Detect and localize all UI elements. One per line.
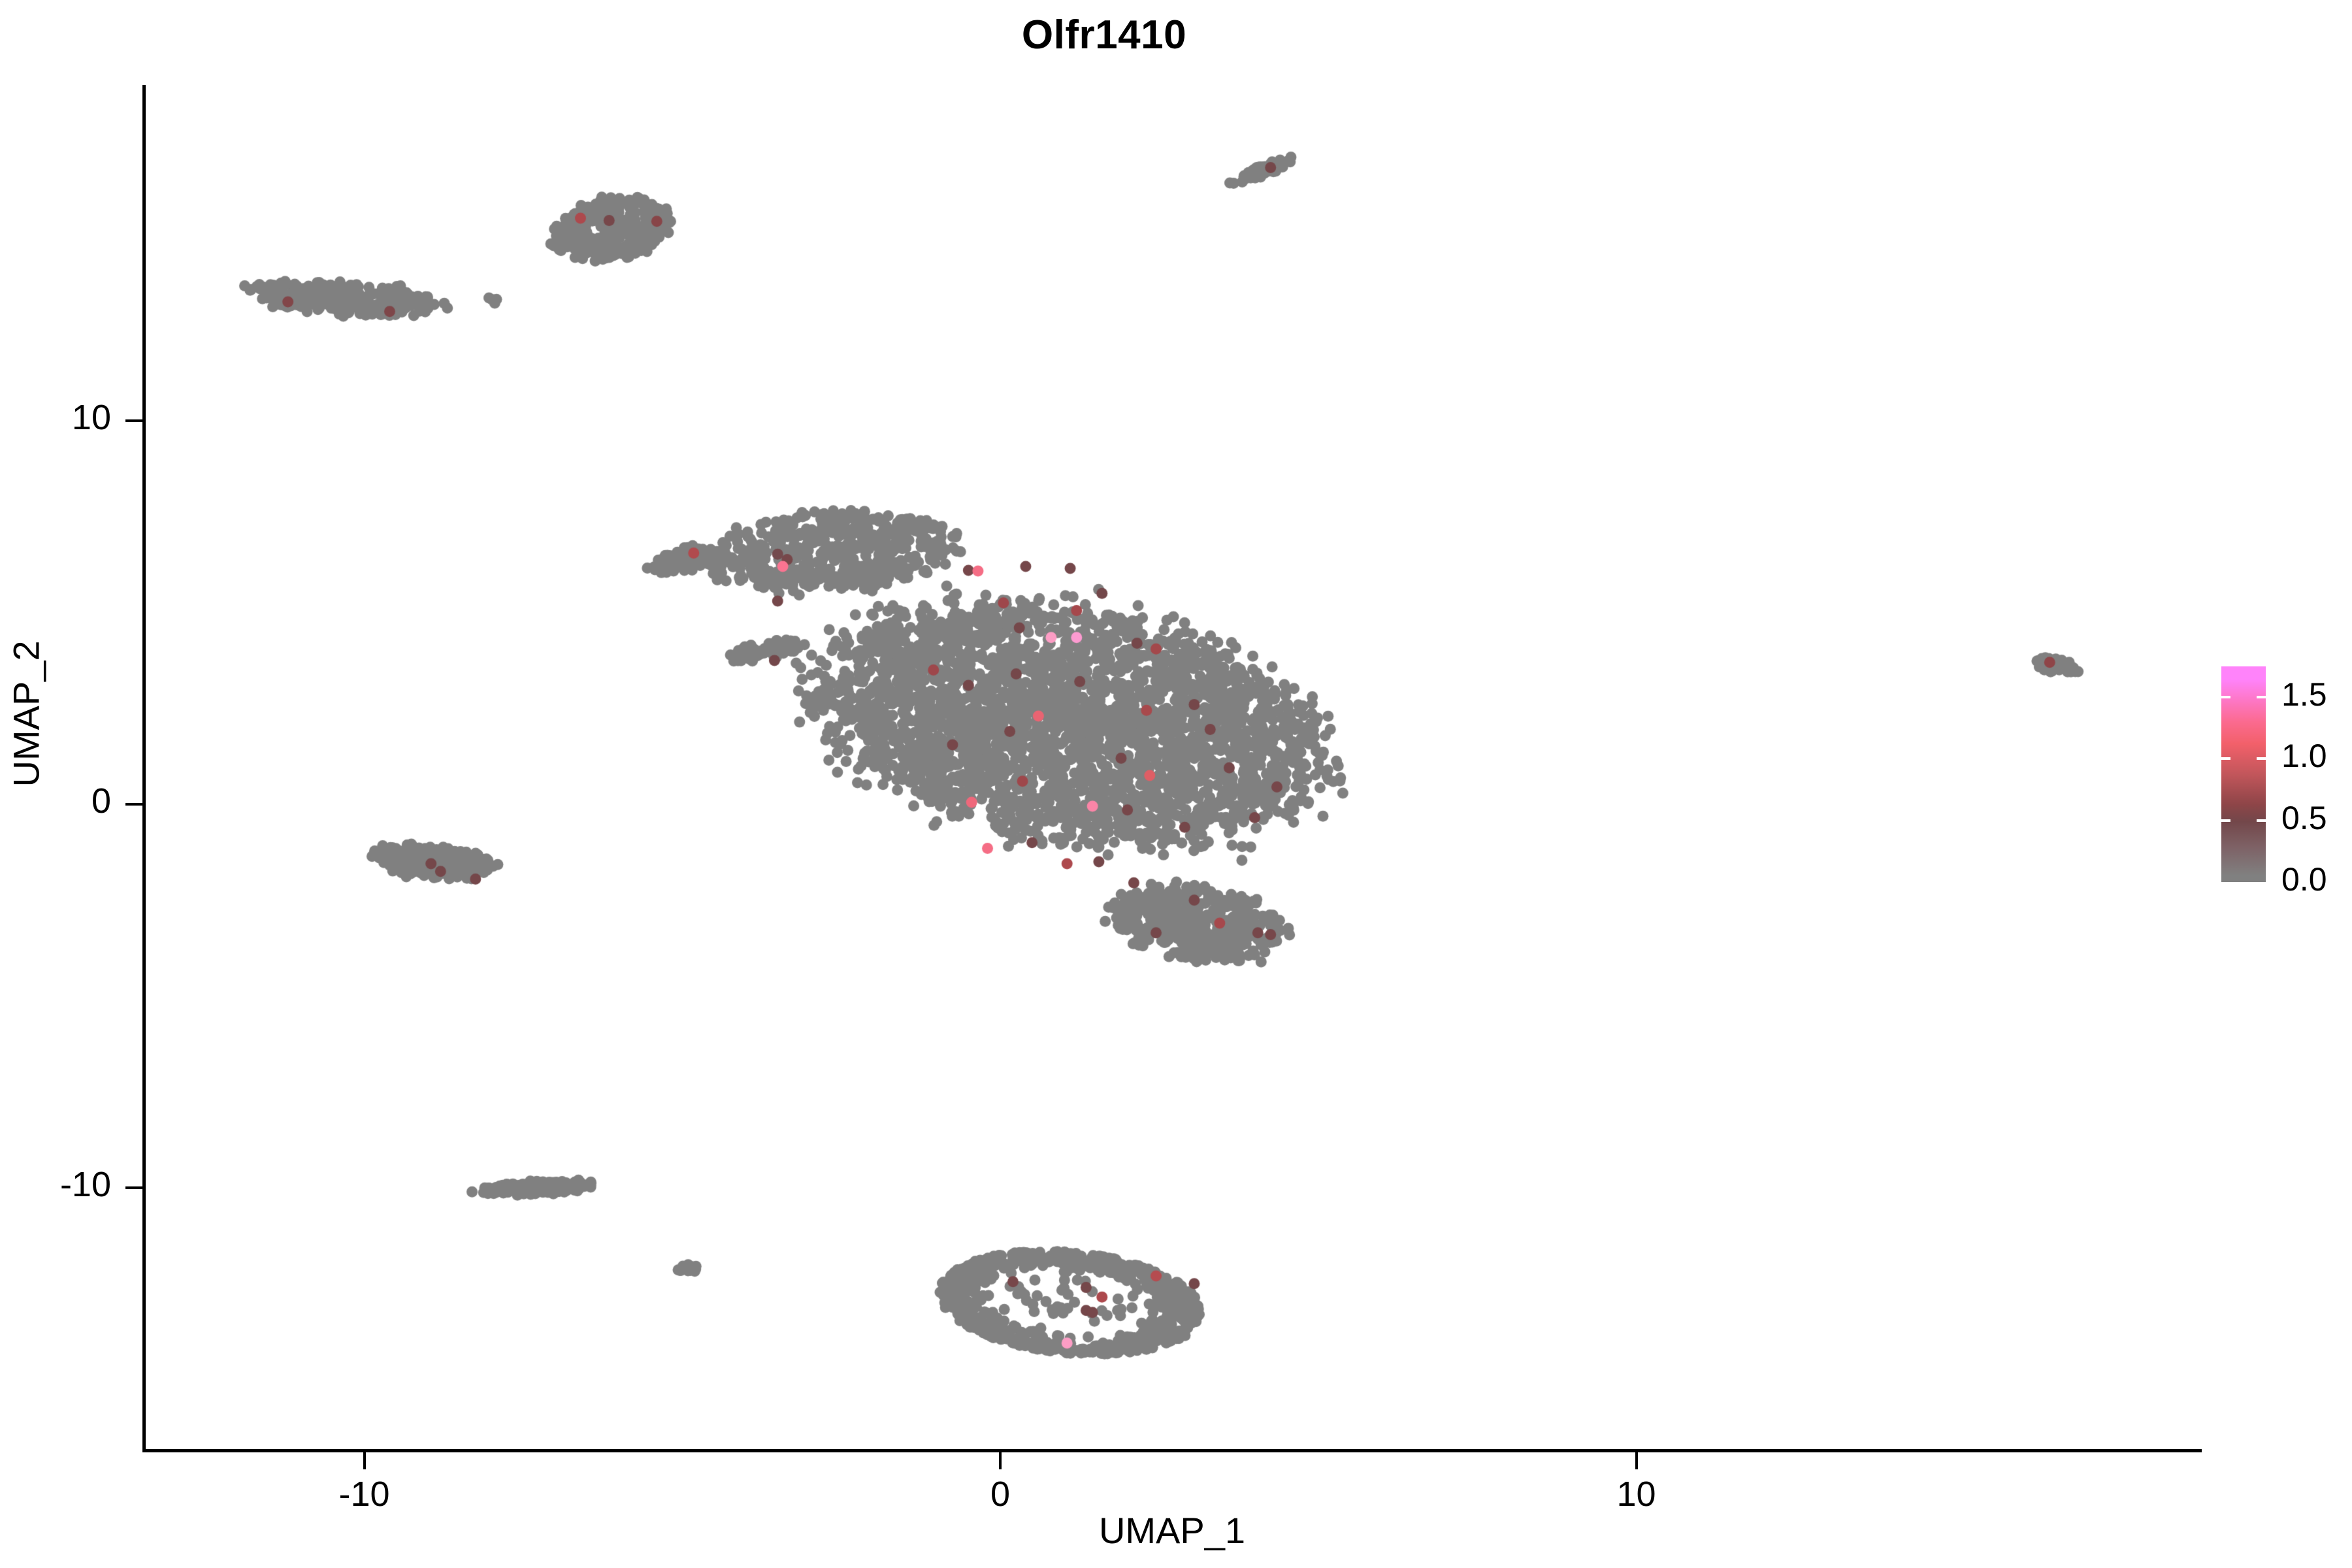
x-tick-mark [363,1452,366,1469]
x-axis-line [142,1449,2202,1452]
x-tick-mark [1635,1452,1638,1469]
x-tick-mark [999,1452,1002,1469]
x-axis-title: UMAP_1 [142,1509,2202,1552]
umap-feature-plot: Olfr1410 -10010 -10010 UMAP_1 UMAP_2 1.5… [0,0,2352,1568]
colorbar-tick-label: 0.0 [2281,860,2352,898]
y-axis-title: UMAP_2 [5,485,48,943]
colorbar-legend: 1.51.00.50.0 [2221,666,2345,882]
y-tick-mark [125,419,142,422]
colorbar-tick-label: 1.0 [2281,737,2352,775]
colorbar-tick-label: 0.5 [2281,799,2352,837]
y-tick-label: -10 [0,1164,111,1205]
colorbar-tick-mark [2221,696,2266,698]
colorbar-tick-label: 1.5 [2281,676,2352,713]
scatter-plot-canvas [144,85,2202,1450]
y-axis-line [142,85,146,1452]
colorbar-gradient [2221,666,2266,882]
colorbar-tick-mark [2221,757,2266,760]
x-tick-label: -10 [286,1474,443,1514]
plot-panel [144,85,2202,1450]
x-tick-label: 10 [1558,1474,1715,1514]
y-tick-mark [125,1186,142,1189]
page-title: Olfr1410 [0,12,2208,58]
colorbar-tick-mark [2221,819,2266,822]
x-tick-label: 0 [922,1474,1079,1514]
y-tick-mark [125,803,142,806]
y-tick-label: 10 [0,397,111,438]
